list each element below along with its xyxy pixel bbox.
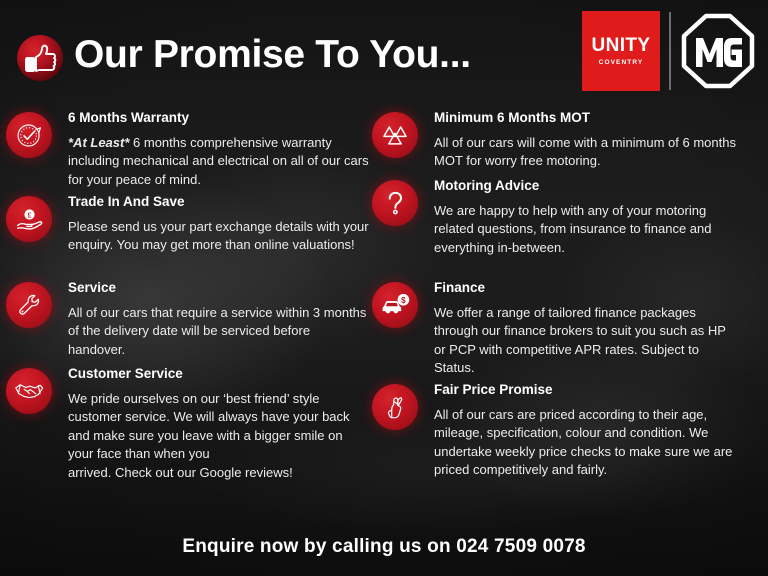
promise-body: *At Least* 6 months comprehensive warran… <box>68 134 370 190</box>
promise-heading: 6 Months Warranty <box>68 110 370 126</box>
promise-item-trade-in: £ Trade In And Save Please send us your … <box>6 194 376 280</box>
promise-body: We offer a range of tailored finance pac… <box>434 304 736 378</box>
promise-heading: Motoring Advice <box>434 178 736 194</box>
promise-body: All of our cars that require a service w… <box>68 304 370 360</box>
promise-heading: Finance <box>434 280 736 296</box>
promise-item-customer-service: Customer Service We pride ourselves on o… <box>6 366 376 482</box>
promise-item-mot: Minimum 6 Months MOT All of our cars wil… <box>372 110 742 178</box>
promise-heading: Trade In And Save <box>68 194 370 210</box>
wrench-icon <box>6 282 52 328</box>
enquire-cta-text: Enquire now by calling us on 024 7509 00… <box>0 536 768 558</box>
promise-column-left: 6 Months Warranty *At Least* 6 months co… <box>6 110 376 482</box>
promise-item-fair-price: Fair Price Promise All of our cars are p… <box>372 382 742 480</box>
car-finance-icon: $ <box>372 282 418 328</box>
promise-body: All of our cars are priced according to … <box>434 406 736 480</box>
mot-triangles-icon <box>372 112 418 158</box>
unity-wordmark: UNITY <box>592 36 651 55</box>
promise-item-service: Service All of our cars that require a s… <box>6 280 376 366</box>
header: Our Promise To You... UNITY COVENTRY <box>0 0 768 100</box>
promise-body-emphasis: *At Least* <box>68 135 129 150</box>
warranty-seal-icon <box>6 112 52 158</box>
handshake-icon <box>6 368 52 414</box>
promise-heading: Service <box>68 280 370 296</box>
page-title: Our Promise To You... <box>74 33 471 77</box>
promise-item-finance: $ Finance We offer a range of tailored f… <box>372 280 742 382</box>
promise-heading: Customer Service <box>68 366 370 382</box>
crossed-fingers-icon <box>372 384 418 430</box>
mg-logo-icon <box>680 12 756 90</box>
promise-body: We are happy to help with any of your mo… <box>434 202 736 258</box>
promise-body: We pride ourselves on our ‘best friend’ … <box>68 390 370 483</box>
promise-item-warranty: 6 Months Warranty *At Least* 6 months co… <box>6 110 376 194</box>
hand-holding-pound-icon: £ <box>6 196 52 242</box>
promise-heading: Minimum 6 Months MOT <box>434 110 736 126</box>
promise-column-right: Minimum 6 Months MOT All of our cars wil… <box>372 110 742 480</box>
unity-location-label: COVENTRY <box>599 60 644 67</box>
promise-body: Please send us your part exchange detail… <box>68 218 370 255</box>
unity-coventry-logo: UNITY COVENTRY <box>582 11 660 91</box>
thumbs-up-icon <box>10 28 70 88</box>
promise-heading: Fair Price Promise <box>434 382 736 398</box>
question-mark-icon <box>372 180 418 226</box>
brand-logos: UNITY COVENTRY <box>582 11 756 91</box>
promise-graphic: Our Promise To You... UNITY COVENTRY <box>0 0 768 576</box>
svg-text:$: $ <box>401 296 406 305</box>
svg-text:£: £ <box>27 210 31 219</box>
promise-body: All of our cars will come with a minimum… <box>434 134 736 171</box>
promise-item-motoring-advice: Motoring Advice We are happy to help wit… <box>372 178 742 280</box>
logo-divider <box>669 12 671 90</box>
